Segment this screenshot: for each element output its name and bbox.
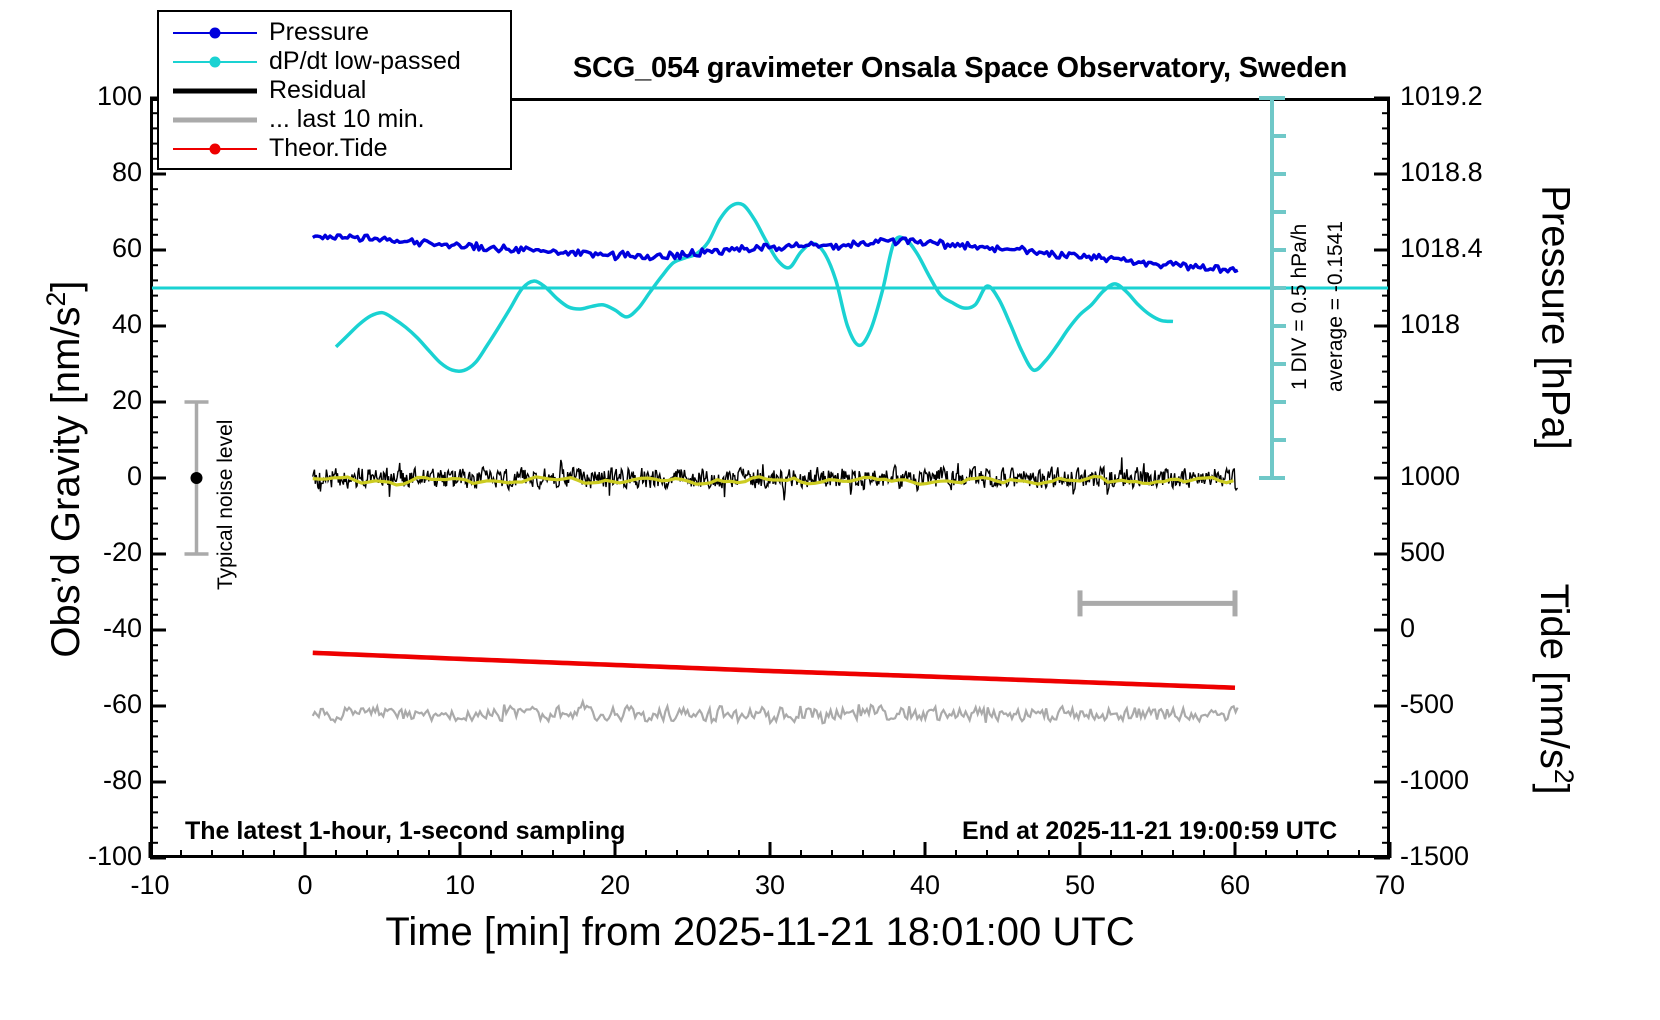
x-tick-label: 0 — [245, 872, 365, 899]
legend-label-theor-tide: Theor.Tide — [269, 134, 388, 163]
legend-swatch-pressure — [173, 23, 257, 43]
series-last-10-min — [313, 702, 1238, 724]
legend-item-last10[interactable]: ... last 10 min. — [159, 105, 510, 134]
y-tick-label-gravity: -20 — [103, 539, 142, 566]
legend-item-residual[interactable]: Residual — [159, 76, 510, 105]
legend-label-residual: Residual — [269, 76, 366, 105]
series-pressure — [313, 235, 1238, 272]
legend-label-last10: ... last 10 min. — [269, 105, 425, 134]
y-tick-label-gravity: -60 — [103, 691, 142, 718]
annotation-sampling-note: The latest 1-hour, 1-second sampling — [185, 817, 625, 846]
annotation-dpdt-div: 1 DIV = 0.5 hPa/h — [1288, 224, 1312, 390]
y-tick-label-gravity: -40 — [103, 615, 142, 642]
annotation-shapes-layer — [185, 98, 1287, 616]
y-axis-title-tide: Tide [nm/s2] — [1531, 494, 1579, 884]
legend-item-pressure[interactable]: Pressure — [159, 18, 510, 47]
legend-item-dpdt[interactable]: dP/dt low-passed — [159, 47, 510, 76]
x-tick-label: 10 — [400, 872, 520, 899]
legend-dot-pressure — [210, 27, 221, 38]
x-axis-title: Time [min] from 2025-11-21 18:01:00 UTC — [330, 910, 1190, 955]
legend-swatch-last10 — [173, 110, 257, 130]
y-tick-label-gravity: 80 — [112, 159, 142, 186]
y-tick-label-pressure: 1018.4 — [1400, 235, 1483, 262]
y-tick-label-pressure: 1018 — [1400, 311, 1460, 338]
y-tick-label-gravity: 100 — [97, 83, 142, 110]
y-tick-label-tide: -1500 — [1400, 843, 1469, 870]
y-tick-label-tide: 500 — [1400, 539, 1445, 566]
y-tick-label-tide: -500 — [1400, 691, 1454, 718]
annotation-noise-level: Typical noise level — [214, 420, 238, 590]
y-tick-label-pressure: 1019.2 — [1400, 83, 1483, 110]
y-tick-label-pressure: 1018.8 — [1400, 159, 1483, 186]
y-axis-title-gravity: Obs’d Gravity [nm/s2] — [41, 189, 89, 749]
data-series-layer — [152, 203, 1388, 723]
legend: Pressure dP/dt low-passed Residual ... l… — [157, 10, 512, 170]
y-tick-label-tide: 0 — [1400, 615, 1415, 642]
right-axis-ticks — [1374, 98, 1390, 858]
y-tick-label-tide: -1000 — [1400, 767, 1469, 794]
y-tick-label-gravity: -80 — [103, 767, 142, 794]
y-tick-label-gravity: 20 — [112, 387, 142, 414]
legend-item-theor-tide[interactable]: Theor.Tide — [159, 134, 510, 163]
annotation-dpdt-average: average = -0.1541 — [1324, 221, 1348, 392]
x-tick-label: 20 — [555, 872, 675, 899]
legend-dot-dpdt — [210, 56, 221, 67]
left-axis-ticks — [150, 98, 166, 858]
y-tick-label-gravity: 60 — [112, 235, 142, 262]
legend-dot-theor-tide — [210, 143, 221, 154]
x-tick-label: 60 — [1175, 872, 1295, 899]
x-tick-label: 30 — [710, 872, 830, 899]
y-tick-label-gravity: 0 — [127, 463, 142, 490]
x-tick-label: 50 — [1020, 872, 1140, 899]
y-tick-label-gravity: -100 — [88, 843, 142, 870]
noise-bar-center-dot — [191, 472, 203, 484]
series-theor-tide — [313, 653, 1235, 688]
y-axis-title-pressure: Pressure [hPa] — [1533, 108, 1578, 528]
legend-swatch-theor-tide — [173, 139, 257, 159]
legend-swatch-residual — [173, 81, 257, 101]
x-tick-label: -10 — [90, 872, 210, 899]
legend-label-pressure: Pressure — [269, 18, 369, 47]
x-tick-label: 70 — [1330, 872, 1450, 899]
legend-swatch-dpdt — [173, 52, 257, 72]
legend-label-dpdt: dP/dt low-passed — [269, 47, 461, 76]
x-tick-label: 40 — [865, 872, 985, 899]
y-tick-label-gravity: 40 — [112, 311, 142, 338]
y-tick-label-tide: 1000 — [1400, 463, 1460, 490]
annotation-end-time: End at 2025-11-21 19:00:59 UTC — [962, 817, 1337, 846]
